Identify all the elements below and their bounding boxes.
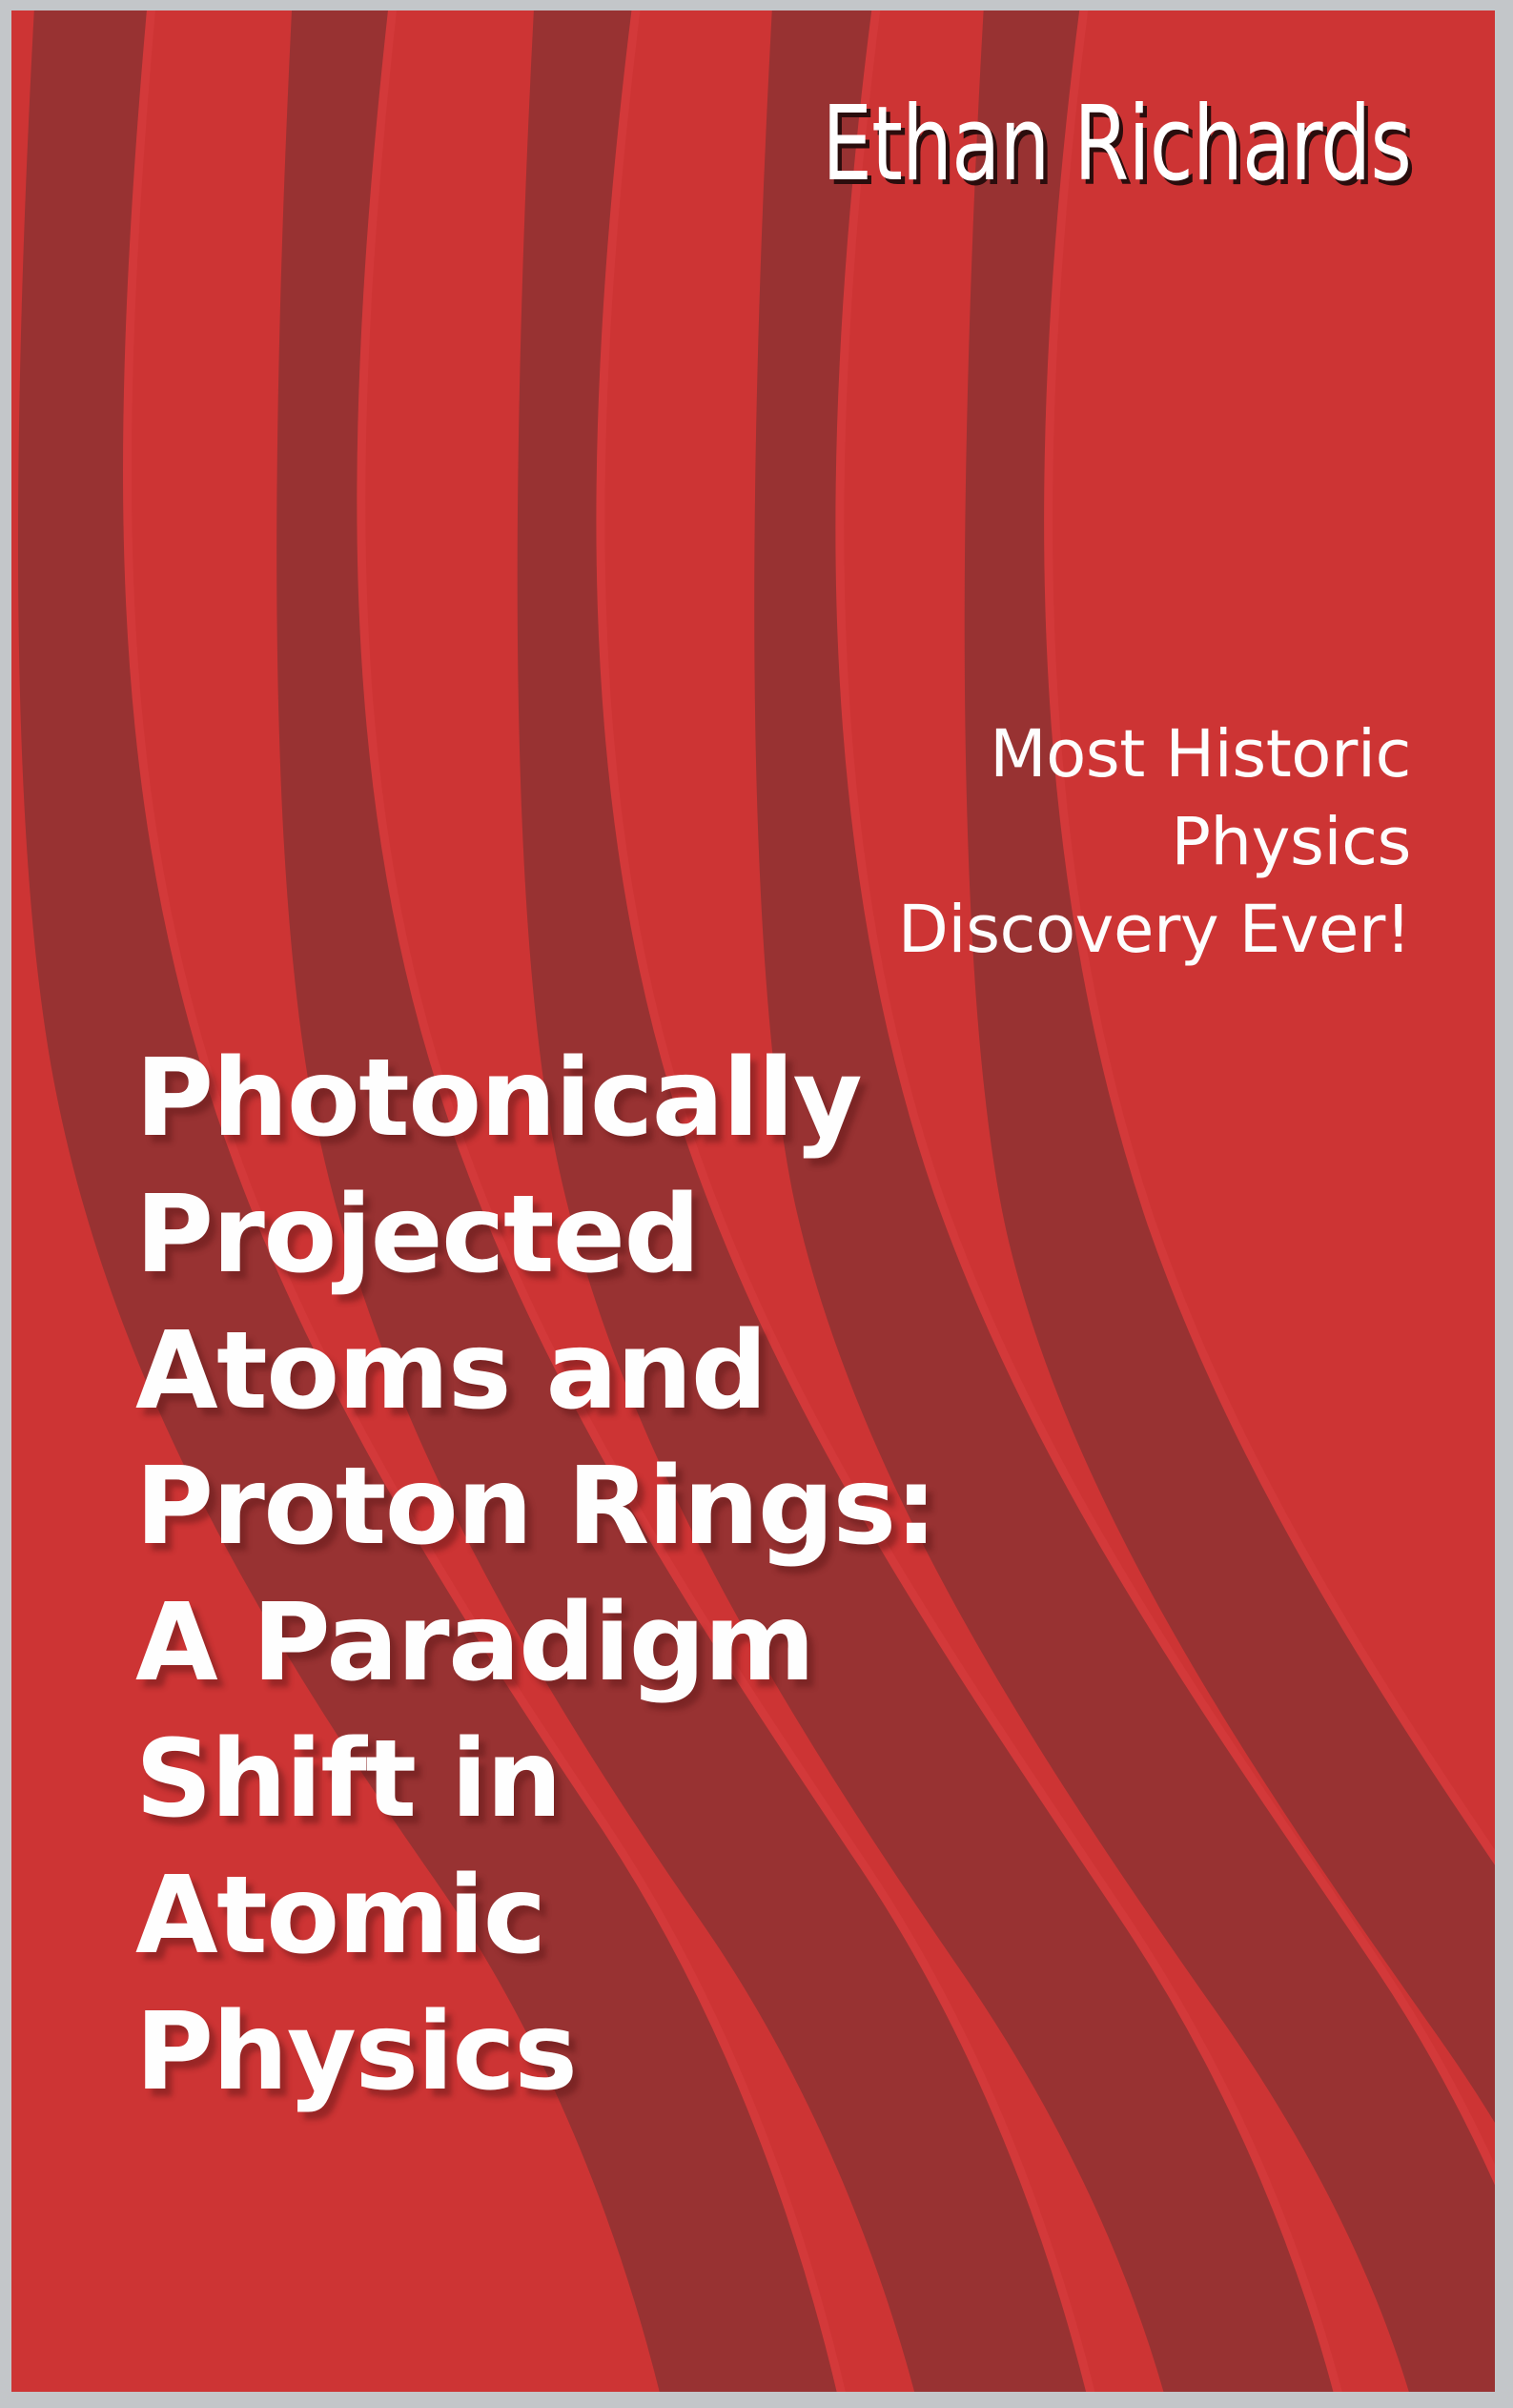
subtitle-line: Most Historic [990, 716, 1411, 792]
title-line: A Paradigm [135, 1575, 1241, 1712]
book-cover: Ethan Richards Most Historic Physics Dis… [0, 0, 1513, 2408]
subtitle: Most Historic Physics Discovery Ever! [686, 711, 1411, 974]
title-line: Projected [135, 1167, 1241, 1304]
author-name: Ethan Richards [427, 93, 1411, 197]
title-line: Proton Rings: [135, 1439, 1241, 1575]
book-title: Photonically Projected Atoms and Proton … [135, 1031, 1241, 2120]
title-line: Atoms and [135, 1304, 1241, 1440]
title-line: Shift in [135, 1712, 1241, 1848]
title-line: Atomic [135, 1848, 1241, 1985]
cover-artwork: Ethan Richards Most Historic Physics Dis… [11, 10, 1495, 2392]
title-line: Photonically [135, 1031, 1241, 1167]
subtitle-line: Physics [1171, 804, 1411, 880]
title-line: Physics [135, 1985, 1241, 2121]
subtitle-line: Discovery Ever! [898, 892, 1411, 968]
